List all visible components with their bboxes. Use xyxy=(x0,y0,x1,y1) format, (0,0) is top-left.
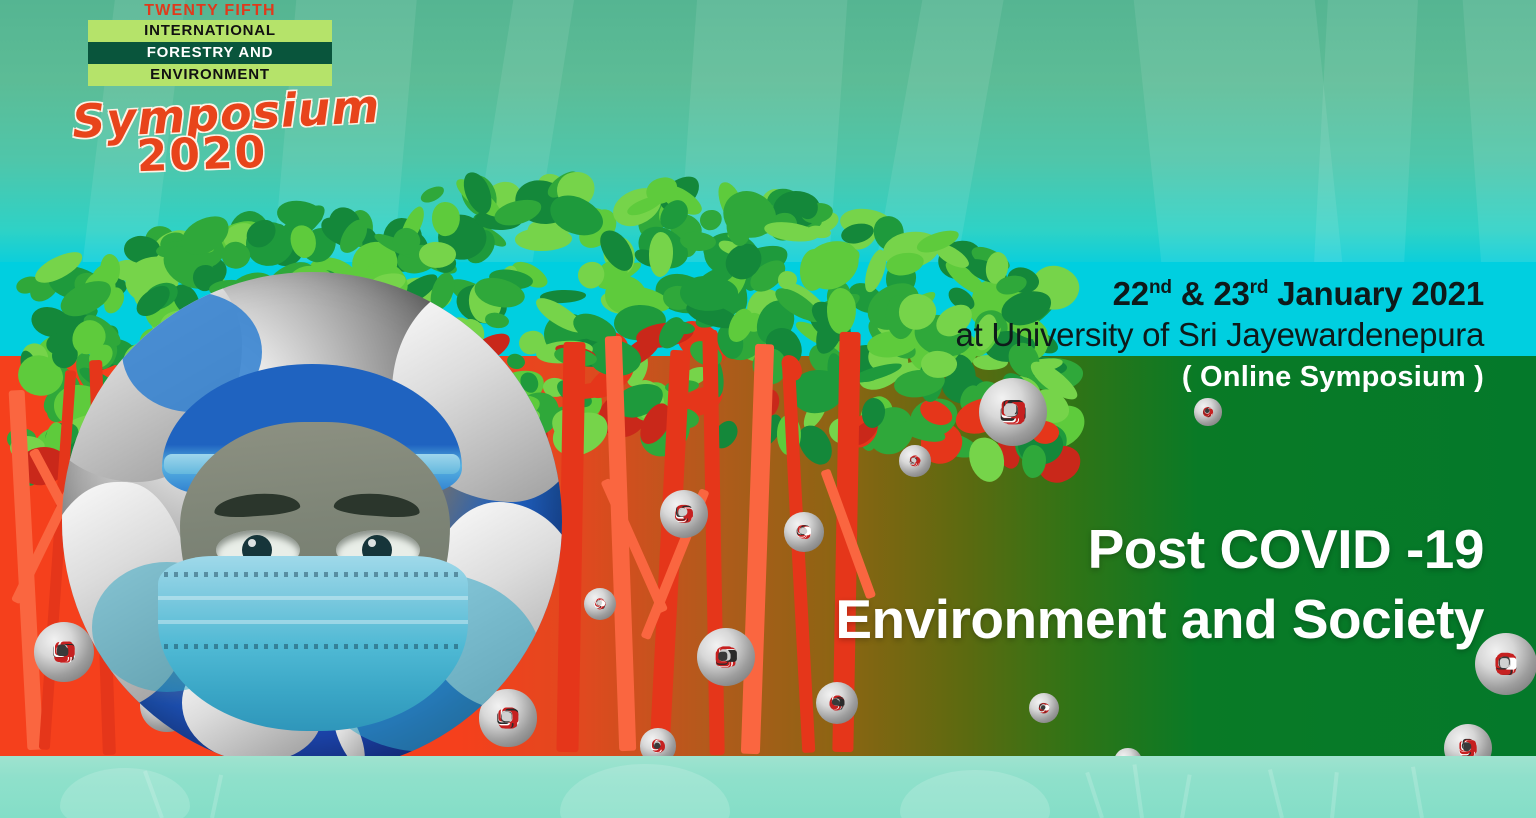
virus-speckle xyxy=(678,509,685,516)
leaf-silhouette xyxy=(900,770,1050,818)
foliage-blob xyxy=(826,288,857,335)
coronavirus-icon xyxy=(683,614,769,700)
leaf-silhouette xyxy=(60,768,190,818)
symposium-logo: TWENTY FIFTH INTERNATIONAL FORESTRY AND … xyxy=(72,2,332,176)
coronavirus-icon xyxy=(806,672,868,734)
date-day-one: 22 xyxy=(1113,275,1149,312)
mask-pleat xyxy=(158,620,468,624)
date-month-year: January 2021 xyxy=(1268,275,1484,312)
title-line-2: Environment and Society xyxy=(835,584,1484,654)
bottom-mint-strip xyxy=(0,756,1536,818)
date-ampersand: & xyxy=(1172,275,1214,312)
grass-blade xyxy=(1133,764,1144,818)
logo-line-forestry-and: FORESTRY AND xyxy=(88,42,332,64)
coronavirus-icon xyxy=(1022,686,1066,730)
virus-speckle xyxy=(1205,409,1209,413)
foliage-blob xyxy=(648,232,673,277)
coronavirus-icon xyxy=(963,362,1063,462)
virus-speckle xyxy=(800,528,806,534)
virus-spikes xyxy=(576,580,624,628)
virus-spikes xyxy=(1188,392,1228,432)
virus-spikes xyxy=(1022,686,1066,730)
event-date: 22nd & 23rd January 2021 xyxy=(956,268,1484,314)
mask-pleat xyxy=(158,596,468,600)
grass-blade xyxy=(1411,766,1424,818)
logo-line-international: INTERNATIONAL xyxy=(88,20,332,42)
coronavirus-icon xyxy=(576,580,624,628)
virus-speckle xyxy=(1005,406,1015,416)
coronavirus-icon xyxy=(648,478,720,550)
grass-blade xyxy=(1180,774,1192,818)
virus-speckle xyxy=(1464,743,1471,750)
date-day-two-ordinal: rd xyxy=(1250,277,1269,298)
virus-spikes xyxy=(892,438,938,484)
logo-year: 2020 xyxy=(71,129,332,180)
coronavirus-icon xyxy=(775,503,833,561)
event-venue: at University of Sri Jayewardenepura xyxy=(956,314,1484,356)
poster-main-title: Post COVID -19 Environment and Society xyxy=(835,514,1484,654)
virus-speckle xyxy=(1499,658,1508,667)
grass-blade xyxy=(1330,772,1339,818)
grass-blade xyxy=(1268,769,1284,818)
virus-speckle xyxy=(597,601,602,606)
date-day-one-ordinal: nd xyxy=(1149,277,1172,298)
event-details-block: 22nd & 23rd January 2021 at University o… xyxy=(956,268,1484,356)
date-day-two: 23 xyxy=(1213,275,1249,312)
grass-blade xyxy=(1085,772,1104,818)
coronavirus-icon xyxy=(1188,392,1228,432)
globe-earth-icon xyxy=(62,272,562,772)
coronavirus-icon xyxy=(892,438,938,484)
virus-speckle xyxy=(718,652,727,661)
virus-spikes xyxy=(806,672,868,734)
leaf-silhouette xyxy=(560,764,730,818)
mask-stitch-line xyxy=(164,572,462,577)
virus-spikes xyxy=(963,362,1063,462)
virus-speckle xyxy=(911,458,916,463)
virus-spikes xyxy=(775,503,833,561)
mask-stitch-line xyxy=(164,644,462,649)
symposium-poster: TWENTY FIFTH INTERNATIONAL FORESTRY AND … xyxy=(0,0,1536,818)
logo-line-twenty-fifth: TWENTY FIFTH xyxy=(72,2,332,20)
virus-spikes xyxy=(683,614,769,700)
title-line-1: Post COVID -19 xyxy=(835,514,1484,584)
virus-spikes xyxy=(648,478,720,550)
event-mode-online-symposium: ( Online Symposium ) xyxy=(1182,358,1484,396)
grass-blade xyxy=(210,775,223,818)
